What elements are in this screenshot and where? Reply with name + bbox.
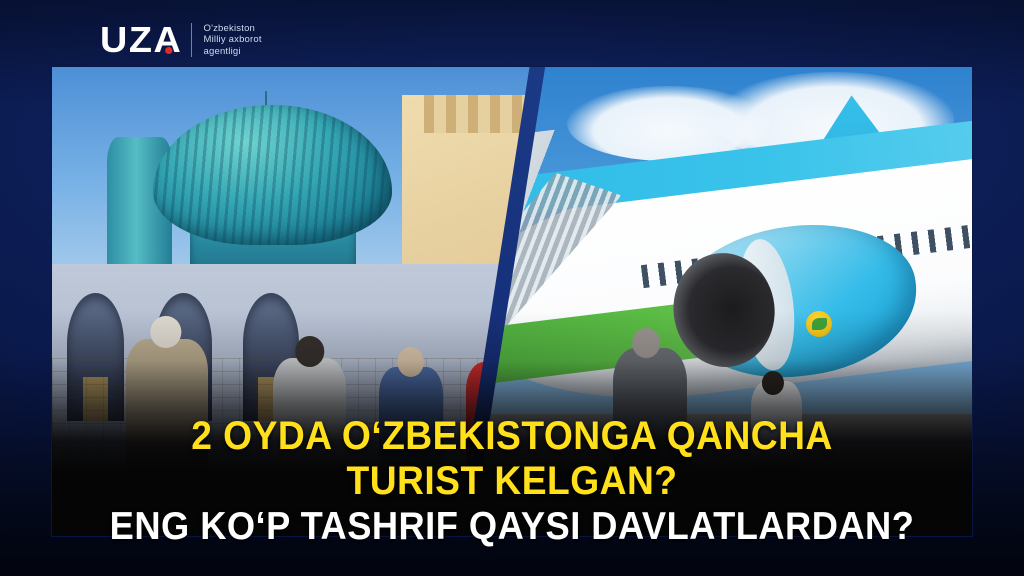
headline-line-1: 2 OYDA O‘ZBEKISTONGA QANCHA xyxy=(36,414,988,459)
uza-wordmark-text: UZA xyxy=(100,19,182,60)
headline-line-2: TURIST KELGAN? xyxy=(36,459,988,504)
logo-divider xyxy=(191,23,192,57)
tagline-line-2: Milliy axborot xyxy=(204,34,262,46)
tagline-line-1: O'zbekiston xyxy=(204,23,262,35)
uza-red-dot-icon xyxy=(165,47,172,54)
uza-logo[interactable]: UZA O'zbekiston Milliy axborot agentligi xyxy=(100,22,262,58)
headline-line-3: ENG KO‘P TASHRIF QAYSI DAVLATLARDAN? xyxy=(36,504,988,550)
headline-block: 2 OYDA O‘ZBEKISTONGA QANCHA TURIST KELGA… xyxy=(0,414,1024,550)
news-cover-card: TAN UZBEKISTAN xyxy=(0,0,1024,576)
uza-wordmark: UZA xyxy=(100,22,182,58)
tagline-line-3: agentligi xyxy=(204,46,262,58)
uza-tagline: O'zbekiston Milliy axborot agentligi xyxy=(204,23,262,58)
